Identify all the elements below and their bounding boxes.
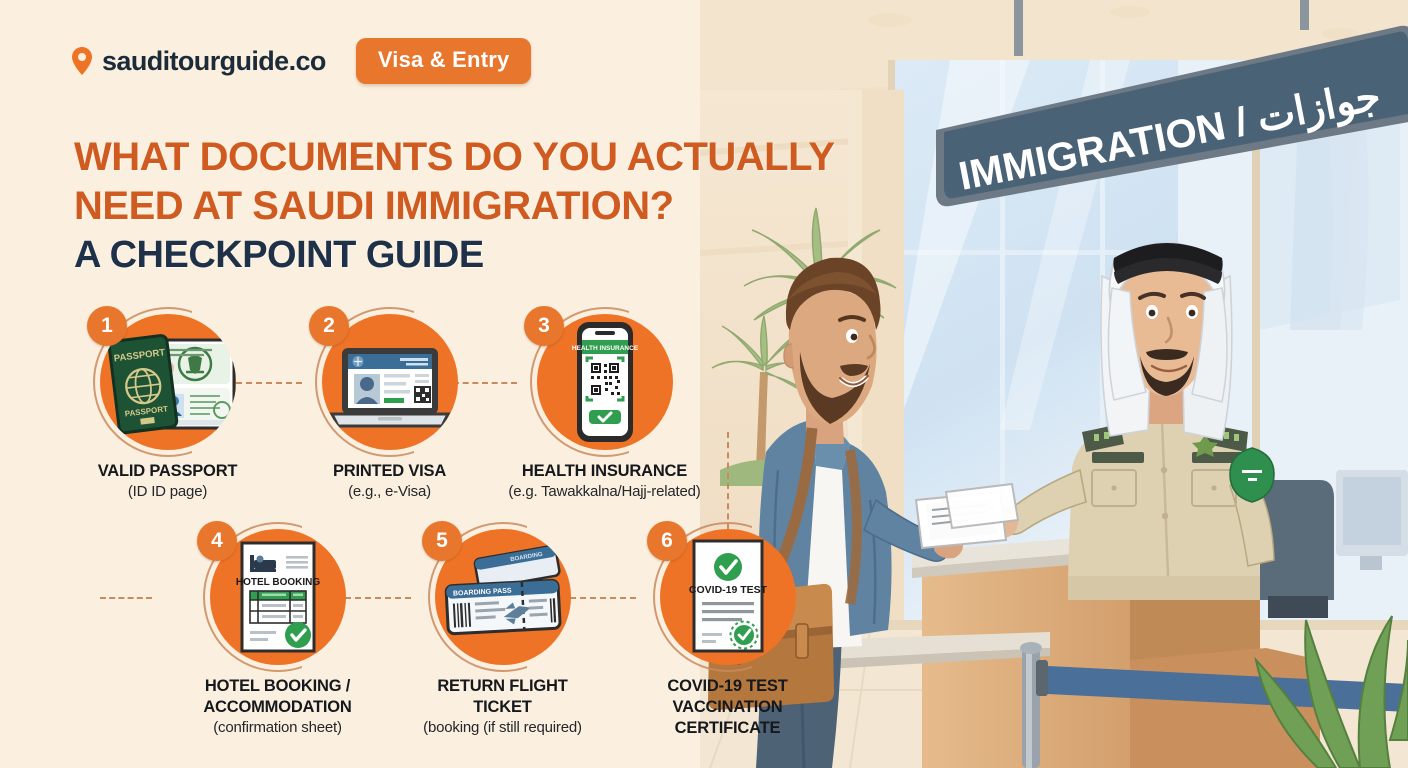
connector-1-4 bbox=[100, 597, 152, 599]
step-4-title-2: ACCOMMODATION bbox=[160, 697, 395, 718]
covid-doc-label: COVID-19 TEST bbox=[689, 584, 768, 596]
infographic-canvas: IMMIGRATION / جوازات sauditourguide.co V… bbox=[0, 0, 1408, 768]
visa-entry-badge[interactable]: Visa & Entry bbox=[356, 38, 532, 84]
step-4[interactable]: 4 bbox=[210, 529, 395, 738]
step-1[interactable]: 1 bbox=[100, 314, 285, 502]
title-line-2: NEED AT SAUDI IMMIGRATION? bbox=[74, 182, 835, 231]
step-3-subtitle: (e.g. Tawakkalna/Hajj-related) bbox=[487, 482, 722, 502]
brand[interactable]: sauditourguide.co bbox=[72, 46, 326, 77]
brand-name: sauditourguide.co bbox=[102, 46, 326, 77]
step-2-title: PRINTED VISA bbox=[272, 461, 507, 482]
page-title: WHAT DOCUMENTS DO YOU ACTUALLY NEED AT S… bbox=[74, 133, 835, 280]
step-4-caption: HOTEL BOOKING / ACCOMMODATION (confirmat… bbox=[160, 676, 395, 738]
step-4-badge: 4 bbox=[197, 521, 237, 561]
phone-banner-label: HEALTH INSURANCE bbox=[572, 345, 639, 352]
step-2-caption: PRINTED VISA (e.g., e-Visa) bbox=[272, 461, 507, 502]
title-line-3: A CHECKPOINT GUIDE bbox=[74, 231, 835, 280]
step-2-subtitle: (e.g., e-Visa) bbox=[272, 482, 507, 502]
step-3-title: HEALTH INSURANCE bbox=[487, 461, 722, 482]
step-5-title-1: RETURN FLIGHT bbox=[385, 676, 620, 697]
title-line-1: WHAT DOCUMENTS DO YOU ACTUALLY bbox=[74, 133, 835, 182]
steps-container: 1 bbox=[0, 0, 840, 768]
step-5-badge: 5 bbox=[422, 521, 462, 561]
step-6-title-2: VACCINATION bbox=[610, 697, 845, 718]
step-1-badge: 1 bbox=[87, 306, 127, 346]
step-1-title: VALID PASSPORT bbox=[50, 461, 285, 482]
step-5-subtitle: (booking (if still required) bbox=[385, 718, 620, 738]
step-1-caption: VALID PASSPORT (ID ID page) bbox=[50, 461, 285, 502]
step-2-badge: 2 bbox=[309, 306, 349, 346]
step-4-subtitle: (confirmation sheet) bbox=[160, 718, 395, 738]
step-6-badge: 6 bbox=[647, 521, 687, 561]
step-6[interactable]: 6 COVID-19 TEST bbox=[660, 529, 845, 739]
step-6-title-1: COVID-19 TEST bbox=[610, 676, 845, 697]
location-pin-icon bbox=[72, 47, 92, 75]
step-2[interactable]: 2 bbox=[322, 314, 507, 502]
step-6-title-3: CERTIFICATE bbox=[610, 718, 845, 739]
step-5-title-2: TICKET bbox=[385, 697, 620, 718]
step-5-caption: RETURN FLIGHT TICKET (booking (if still … bbox=[385, 676, 620, 738]
step-5[interactable]: 5 BOARDING BOARDING PASS bbox=[435, 529, 620, 738]
page-header: sauditourguide.co Visa & Entry bbox=[72, 38, 531, 84]
step-3[interactable]: 3 HEALTH INSURANCE bbox=[537, 314, 722, 502]
step-6-caption: COVID-19 TEST VACCINATION CERTIFICATE bbox=[610, 676, 845, 739]
step-3-caption: HEALTH INSURANCE (e.g. Tawakkalna/Hajj-r… bbox=[487, 461, 722, 502]
step-3-badge: 3 bbox=[524, 306, 564, 346]
step-4-title-1: HOTEL BOOKING / bbox=[160, 676, 395, 697]
step-1-subtitle: (ID ID page) bbox=[50, 482, 285, 502]
hotel-doc-label: HOTEL BOOKING bbox=[236, 577, 320, 588]
